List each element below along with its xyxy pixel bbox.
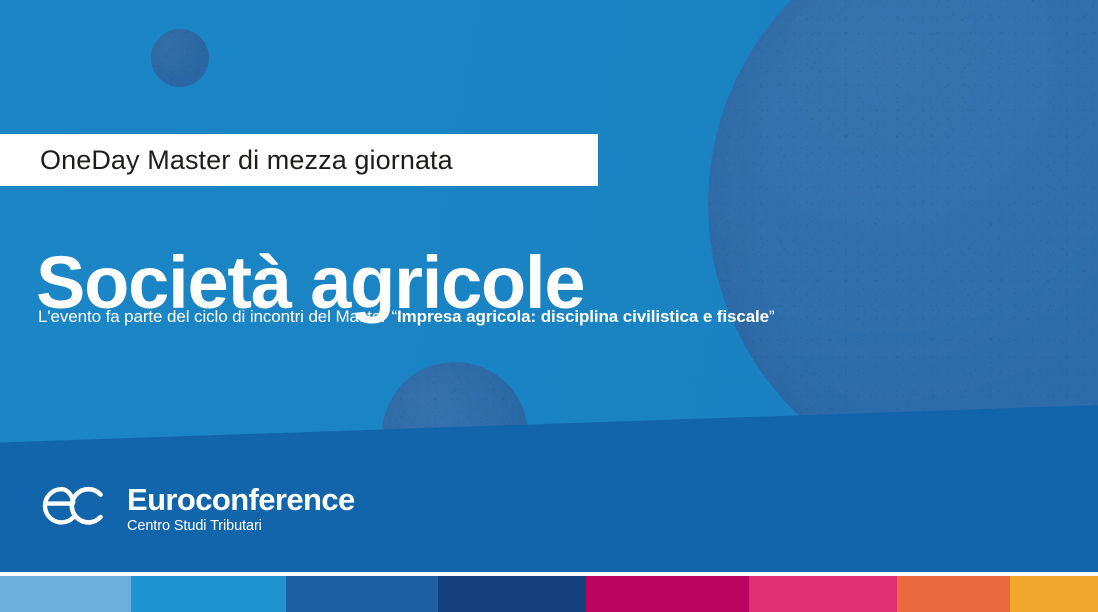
color-bar-segment-pink xyxy=(749,576,897,612)
color-bar-segment-yellow xyxy=(1010,576,1098,612)
brand-color-bar xyxy=(0,576,1098,612)
logo-name: Euroconference xyxy=(127,484,355,515)
color-bar-segment-cyan-blue xyxy=(131,576,286,612)
color-bar-segment-medium-blue xyxy=(286,576,438,612)
subtitle-emphasis: Impresa agricola: disciplina civilistica… xyxy=(397,307,769,326)
color-bar-segment-light-blue xyxy=(0,576,131,612)
subtitle: L'evento fa parte del ciclo di incontri … xyxy=(38,307,775,327)
logo-tagline: Centro Studi Tributari xyxy=(127,519,355,534)
circle-grain-texture xyxy=(151,29,209,87)
kicker-box: OneDay Master di mezza giornata xyxy=(0,134,598,186)
kicker-label: OneDay Master di mezza giornata xyxy=(40,145,453,176)
color-bar-segment-navy-blue xyxy=(438,576,586,612)
subtitle-trail: ” xyxy=(769,307,775,326)
decorative-circle-small xyxy=(151,29,209,87)
event-banner: OneDay Master di mezza giornata Società … xyxy=(0,0,1098,612)
color-bar-segment-orange xyxy=(897,576,1010,612)
logo-wordmark: Euroconference Centro Studi Tributari xyxy=(127,484,355,534)
color-bar-segment-crimson xyxy=(586,576,749,612)
subtitle-lead: L'evento fa parte del ciclo di incontri … xyxy=(38,307,397,326)
euroconference-logo: Euroconference Centro Studi Tributari xyxy=(40,483,355,534)
ec-monogram-icon xyxy=(40,483,118,534)
